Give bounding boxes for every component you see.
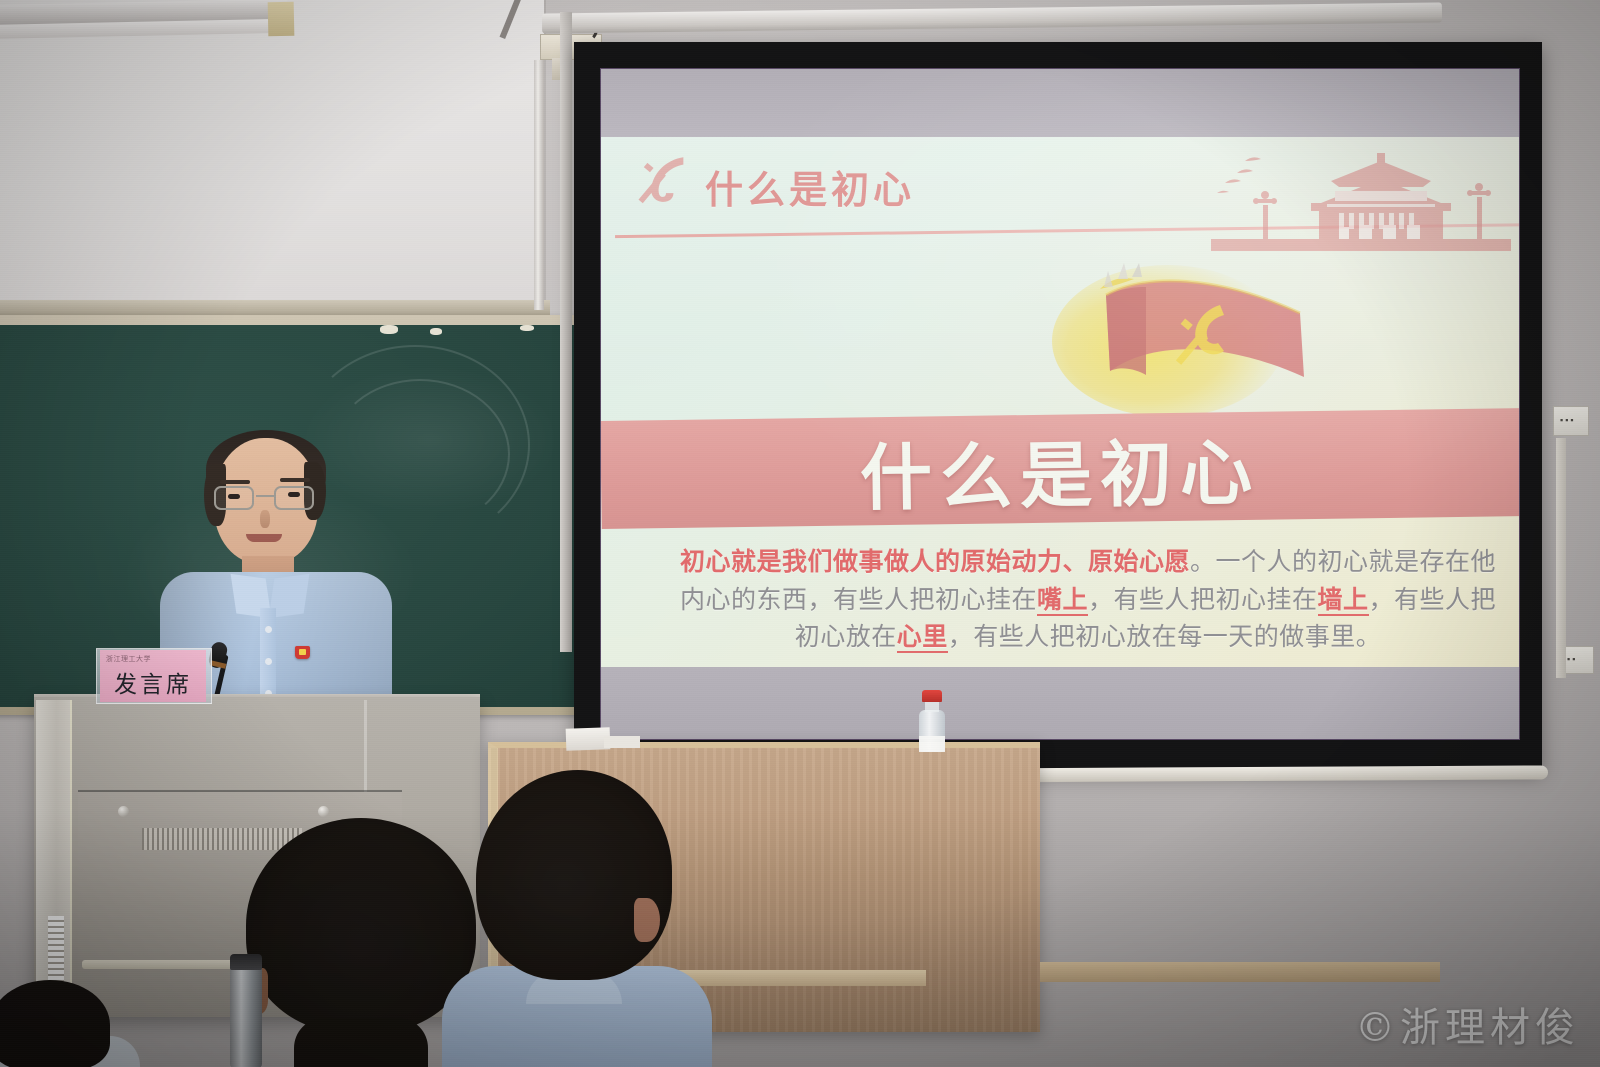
audience-hair bbox=[476, 770, 672, 980]
glasses-bridge bbox=[256, 495, 274, 497]
thermos-bottle bbox=[230, 958, 262, 1067]
body-highlight-wall: 墙上 bbox=[1318, 585, 1369, 616]
screen-surface: 什么是初心 bbox=[600, 68, 1520, 740]
audience-hair bbox=[246, 818, 476, 1033]
presentation-slide: 什么是初心 bbox=[601, 137, 1519, 667]
speaker-eyebrow-right bbox=[280, 478, 310, 482]
screen-left-wall-edge bbox=[560, 12, 572, 652]
thermos-cap bbox=[230, 954, 262, 970]
audience-neck bbox=[294, 1018, 428, 1067]
bottle-neck bbox=[925, 702, 939, 712]
slide-body-text: 初心就是我们做事做人的原始动力、原始心愿。一个人的初心就是存在他 内心的东西，有… bbox=[653, 543, 1519, 656]
outlet-sockets: ▪▪ bbox=[1567, 654, 1577, 664]
slide-header: 什么是初心 bbox=[601, 143, 1519, 231]
cpc-hammer-sickle-icon bbox=[635, 151, 697, 213]
letterbox-bottom bbox=[601, 667, 1519, 739]
nameplate-university-logo: 浙江理工大学 bbox=[106, 654, 151, 664]
podium-seam bbox=[78, 790, 402, 792]
shirt-button bbox=[265, 626, 272, 633]
classroom-photo-scene: 什么是初心 bbox=[0, 0, 1600, 1067]
body-text-2c: ，有些人把 bbox=[1369, 585, 1497, 614]
projection-screen: 什么是初心 bbox=[574, 42, 1542, 770]
wall-vertical-rail bbox=[534, 60, 544, 310]
wall-conduit bbox=[1556, 438, 1566, 678]
bottle-label bbox=[919, 736, 945, 752]
audience-ear bbox=[634, 898, 660, 942]
speaker-eye-right bbox=[288, 492, 300, 497]
body-rest-1: 。一个人的初心就是存在他 bbox=[1190, 547, 1496, 576]
slide-header-title: 什么是初心 bbox=[705, 159, 915, 214]
audience-hair bbox=[0, 980, 110, 1067]
wall-outlet-upper: ▪▪▪ bbox=[1553, 406, 1589, 436]
body-text-2b: ，有些人把初心挂在 bbox=[1088, 585, 1318, 614]
party-emblem-pin bbox=[295, 646, 310, 659]
audience-person-corner bbox=[0, 980, 130, 1067]
speaker-eye-left bbox=[228, 494, 240, 499]
body-line-3: 初心放在心里，有些人把初心放在每一天的做事里。 bbox=[653, 618, 1519, 656]
desk-paper-2 bbox=[604, 736, 640, 748]
glasses-lens-right bbox=[274, 486, 314, 510]
water-bottle bbox=[916, 690, 948, 752]
body-text-3a: 初心放在 bbox=[795, 622, 897, 651]
tiananmen-gate-icon bbox=[1211, 147, 1511, 251]
speaker-mouth bbox=[246, 534, 282, 542]
letterbox-top bbox=[601, 69, 1519, 137]
body-highlight-mouth: 嘴上 bbox=[1037, 585, 1088, 616]
podium-lock-left bbox=[118, 806, 129, 817]
ceiling-rail-cap bbox=[268, 2, 295, 37]
body-line-2: 内心的东西，有些人把初心挂在嘴上，有些人把初心挂在墙上，有些人把 bbox=[653, 581, 1519, 619]
speaker-eyebrow-left bbox=[220, 480, 250, 484]
frame-chip bbox=[520, 325, 534, 331]
nameplate-text: 发言席 bbox=[114, 665, 192, 699]
body-highlight-heart: 心里 bbox=[897, 622, 948, 653]
shirt-button bbox=[265, 658, 272, 665]
speaker-nose bbox=[260, 510, 270, 528]
slide-main-title: 什么是初心 bbox=[859, 413, 1260, 524]
slide-title-band-text: 什么是初心 bbox=[601, 408, 1519, 529]
body-text-3b: ，有些人把初心放在每一天的做事里。 bbox=[948, 622, 1382, 651]
podium-lock-right bbox=[318, 806, 329, 817]
speaker-glasses bbox=[212, 486, 322, 512]
screen-black-border: 什么是初心 bbox=[574, 42, 1542, 770]
frame-chip bbox=[430, 328, 442, 335]
cpc-flag-icon bbox=[1048, 249, 1348, 419]
upper-wall-panel bbox=[0, 0, 546, 312]
body-highlight-1: 初心就是我们做事做人的原始动力、原始心愿 bbox=[680, 547, 1190, 576]
frame-chip bbox=[380, 325, 398, 334]
photo-watermark: ©浙理材俊 bbox=[1355, 995, 1580, 1053]
bottle-cap bbox=[922, 690, 942, 702]
outlet-sockets: ▪▪▪ bbox=[1560, 415, 1576, 425]
rear-bench-edge bbox=[1040, 962, 1440, 982]
audience-person-center bbox=[466, 770, 680, 1067]
body-text-2a: 内心的东西，有些人把初心挂在 bbox=[680, 585, 1037, 614]
body-line-1: 初心就是我们做事做人的原始动力、原始心愿。一个人的初心就是存在他 bbox=[653, 543, 1519, 581]
